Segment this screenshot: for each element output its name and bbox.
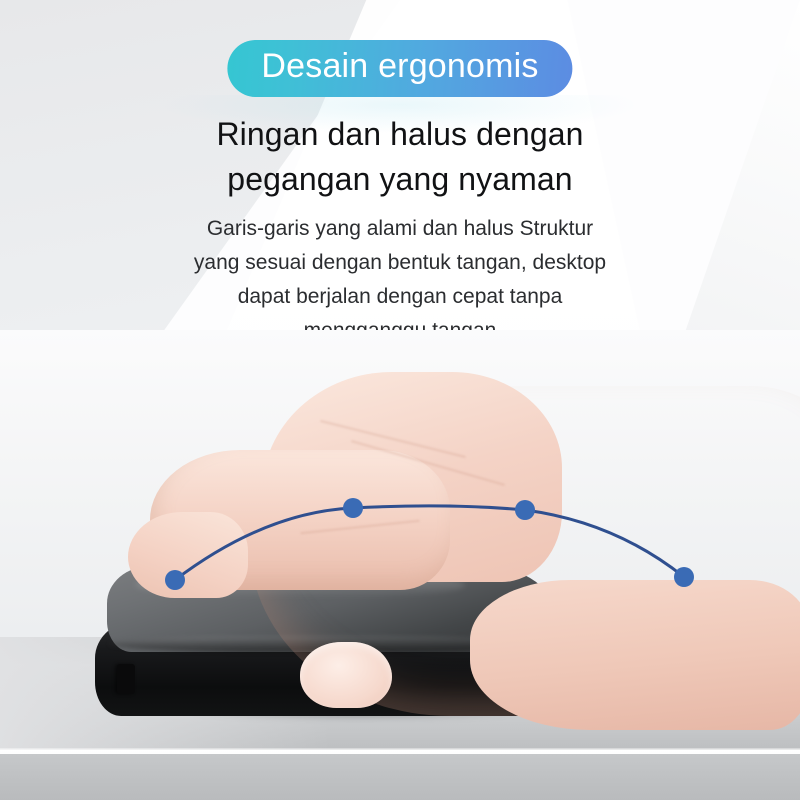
hand-thumbnail bbox=[300, 642, 392, 708]
subcopy-line-1: Garis-garis yang alami dan halus Struktu… bbox=[0, 212, 800, 246]
subcopy-line-2: yang sesuai dengan bentuk tangan, deskto… bbox=[0, 246, 800, 280]
headline-line-1: Ringan dan halus dengan bbox=[0, 112, 800, 157]
product-photo bbox=[0, 330, 800, 800]
headline: Ringan dan halus dengan pegangan yang ny… bbox=[0, 112, 800, 203]
subcopy: Garis-garis yang alami dan halus Struktu… bbox=[0, 212, 800, 348]
section-badge: Desain ergonomis bbox=[227, 40, 572, 97]
hand-fingertip bbox=[128, 512, 248, 598]
ergonomic-design-poster: Desain ergonomis Ringan dan halus dengan… bbox=[0, 0, 800, 800]
hand-thumb-base bbox=[470, 580, 800, 730]
hand bbox=[0, 330, 800, 800]
headline-line-2: pegangan yang nyaman bbox=[0, 157, 800, 202]
subcopy-line-3: dapat berjalan dengan cepat tanpa bbox=[0, 280, 800, 314]
